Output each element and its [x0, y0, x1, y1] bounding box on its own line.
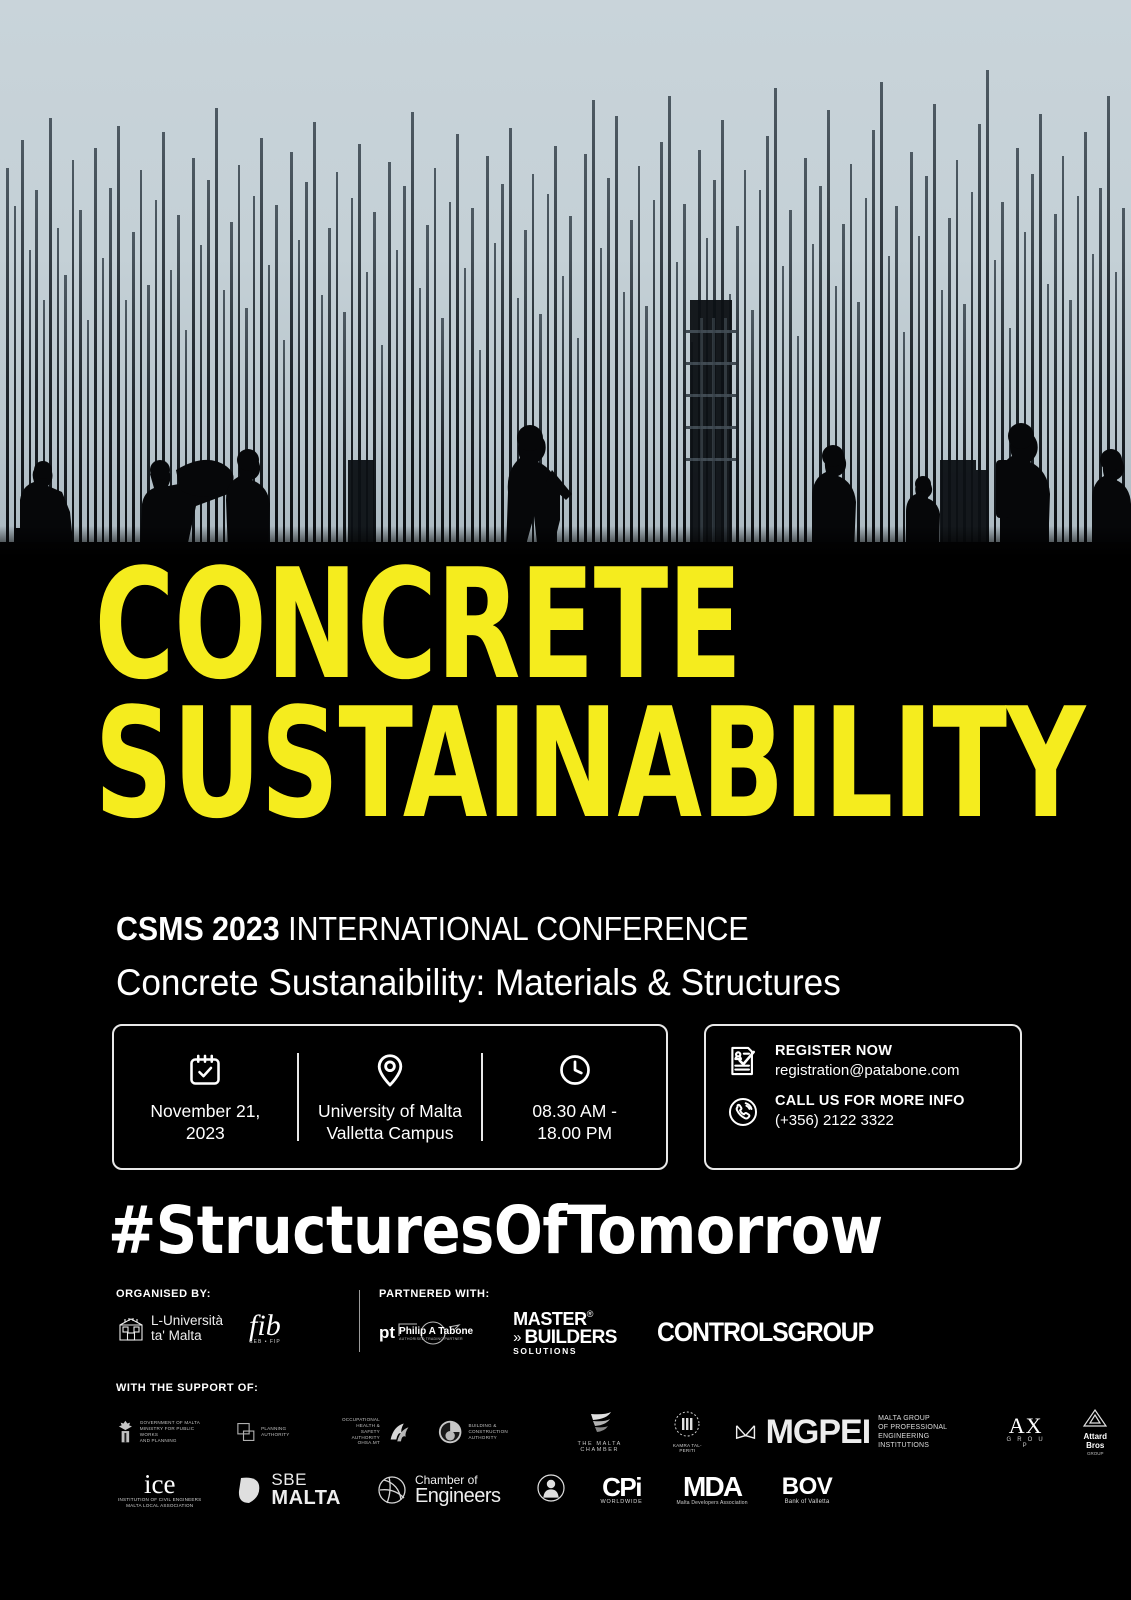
conference-kicker: CSMS 2023 INTERNATIONAL CONFERENCE — [116, 912, 999, 945]
logo-philip-a-tabone: pt Philip A Tabone AUTHORISED TRADING PA… — [379, 1324, 473, 1341]
support-section: WITH THE SUPPORT OF: GOVERNMENT OF MALTA… — [116, 1382, 1116, 1509]
mgpei-line2: OF PROFESSIONAL — [878, 1423, 971, 1432]
bca-text: BUILDING & CONSTRUCTION AUTHORITY — [469, 1423, 534, 1440]
sbe-line2: MALTA — [271, 1489, 341, 1509]
event-details-box: November 21, 2023 University of Malta Va… — [112, 1024, 668, 1170]
fib-subtext: CEB • FIP — [249, 1339, 281, 1345]
bov-sub: Bank of Valletta — [782, 1499, 833, 1505]
ice-sub2: MALTA LOCAL ASSOCIATION — [118, 1503, 201, 1509]
clock-icon — [557, 1049, 593, 1091]
cpi-wordmark: CPi — [601, 1475, 643, 1500]
detail-date-text: November 21, 2023 — [150, 1101, 260, 1145]
logo-mccaa — [535, 1472, 567, 1509]
detail-venue-line1: University of Malta — [318, 1101, 462, 1123]
kicker-bold: CSMS 2023 — [116, 910, 280, 947]
cpi-sub: WORLDWIDE — [601, 1499, 643, 1505]
location-pin-icon — [372, 1049, 408, 1091]
logo-mda: MDA Malta Developers Association — [677, 1474, 748, 1507]
detail-venue-line2: Valletta Campus — [318, 1123, 462, 1145]
mda-sub: Malta Developers Association — [677, 1500, 748, 1506]
title-block: CONCRETE SUSTAINABILITY CSMS 2023 INTERN… — [0, 560, 1131, 829]
call-text: CALL US FOR MORE INFO (+356) 2122 3322 — [775, 1092, 965, 1130]
logo-sbe-malta: SBE MALTA — [235, 1472, 341, 1508]
register-text: REGISTER NOW registration@patabone.com — [775, 1042, 960, 1080]
mgpei-line3: ENGINEERING INSTITUTIONS — [878, 1432, 971, 1450]
detail-time-line1: 08.30 AM - — [532, 1101, 617, 1123]
mb-bottom: SOLUTIONS — [513, 1347, 617, 1356]
detail-time-text: 08.30 AM - 18.00 PM — [532, 1101, 617, 1145]
partners-divider — [359, 1290, 360, 1352]
mgpei-sub: MALTA GROUP OF PROFESSIONAL ENGINEERING … — [878, 1414, 971, 1450]
conference-poster: CONCRETE SUSTAINABILITY CSMS 2023 INTERN… — [0, 0, 1131, 1600]
uom-line1: L-Università — [151, 1314, 223, 1329]
call-row[interactable]: CALL US FOR MORE INFO (+356) 2122 3322 — [724, 1092, 1020, 1130]
support-label: WITH THE SUPPORT OF: — [116, 1382, 1116, 1394]
malta-chamber-text: THE MALTA CHAMBER — [559, 1441, 640, 1453]
mb-chevron-icon: » — [513, 1330, 521, 1345]
mb-reg-mark: ® — [587, 1310, 594, 1319]
uom-line2: ta' Malta — [151, 1329, 223, 1344]
title-line-1: CONCRETE — [94, 560, 904, 691]
hero-photo — [0, 0, 1131, 560]
mgpei-wordmark: MGPEI — [766, 1416, 871, 1448]
detail-venue-text: University of Malta Valletta Campus — [318, 1101, 462, 1145]
hashtag: #StructuresOfTomorrow — [108, 1192, 1088, 1269]
registration-form-icon — [724, 1042, 762, 1080]
ohsa-line2: HEALTH & SAFETY — [338, 1423, 380, 1434]
bov-wordmark: BOV — [782, 1476, 833, 1499]
ax-wordmark: AX — [1003, 1415, 1049, 1437]
logo-bov: BOV Bank of Valletta — [782, 1476, 833, 1505]
coe-line2: Engineers — [415, 1486, 501, 1506]
support-logo-row-1: GOVERNMENT OF MALTA MINISTRY FOR PUBLIC … — [116, 1408, 1116, 1456]
title-line-2: SUSTAINABILITY — [94, 699, 904, 830]
logo-ice: ice INSTITUTION OF CIVIL ENGINEERS MALTA… — [118, 1472, 201, 1509]
logo-fib: fib CEB • FIP — [249, 1312, 281, 1345]
logo-university-of-malta: L-Università ta' Malta — [116, 1314, 223, 1344]
register-email[interactable]: registration@patabone.com — [775, 1061, 960, 1081]
call-title: CALL US FOR MORE INFO — [775, 1092, 965, 1111]
partnered-with-label: PARTNERED WITH: — [379, 1288, 1119, 1300]
pa-text: PLANNING AUTHORITY — [261, 1426, 312, 1437]
logo-planning-authority: PLANNING AUTHORITY — [236, 1420, 313, 1444]
partnered-with-column: PARTNERED WITH: pt Philip A Tabone AUTHO… — [379, 1288, 1119, 1356]
pt-name: Philip A Tabone — [399, 1327, 473, 1337]
organised-by-column: ORGANISED BY: L-Università ta' Malta — [116, 1288, 344, 1345]
attard-bros-sub: GROUP — [1075, 1451, 1116, 1456]
ice-wordmark: ice — [118, 1472, 201, 1498]
details-row: November 21, 2023 University of Malta Va… — [112, 1024, 1022, 1174]
logo-building-construction-authority: BUILDING & CONSTRUCTION AUTHORITY — [437, 1418, 533, 1446]
logo-university-of-malta-text: L-Università ta' Malta — [151, 1314, 223, 1344]
logo-government-of-malta: GOVERNMENT OF MALTA MINISTRY FOR PUBLIC … — [116, 1419, 210, 1445]
gom-text: GOVERNMENT OF MALTA MINISTRY FOR PUBLIC … — [140, 1420, 210, 1443]
worker-silhouettes — [0, 0, 1131, 560]
phone-circle-icon — [724, 1093, 762, 1131]
calendar-check-icon — [187, 1049, 223, 1091]
kicker-regular: INTERNATIONAL CONFERENCE — [288, 910, 749, 947]
ax-sub: G R O U P — [1003, 1437, 1049, 1449]
attard-bros-wordmark: Attard Bros — [1075, 1433, 1116, 1451]
bca-line1: BUILDING & CONSTRUCTION — [469, 1423, 534, 1434]
logo-master-builders-solutions: MASTER ® » BUILDERS SOLUTIONS — [513, 1310, 617, 1356]
contact-box: REGISTER NOW registration@patabone.com — [704, 1024, 1022, 1170]
organised-by-label: ORGANISED BY: — [116, 1288, 344, 1300]
detail-venue: University of Malta Valletta Campus — [299, 1049, 482, 1145]
pt-monogram: pt — [379, 1324, 395, 1341]
register-title: REGISTER NOW — [775, 1042, 960, 1061]
detail-date-line1: November 21, — [150, 1101, 260, 1123]
detail-date: November 21, 2023 — [114, 1049, 297, 1145]
call-number[interactable]: (+356) 2122 3322 — [775, 1111, 965, 1131]
logo-ohsa: OCCUPATIONAL HEALTH & SAFETY AUTHORITY o… — [338, 1417, 411, 1446]
conference-subtitle: Concrete Sustanaibility: Materials & Str… — [116, 964, 1066, 1001]
logo-cpi-worldwide: CPi WORLDWIDE — [601, 1475, 643, 1506]
ohsa-text: OCCUPATIONAL HEALTH & SAFETY AUTHORITY o… — [338, 1417, 380, 1446]
support-logo-row-2: ice INSTITUTION OF CIVIL ENGINEERS MALTA… — [116, 1472, 1116, 1509]
gom-line2: MINISTRY FOR PUBLIC WORKS — [140, 1426, 210, 1437]
mb-top: MASTER — [513, 1310, 587, 1328]
controls-group-wordmark: CONTROLSGROUP — [657, 1319, 873, 1346]
gom-line3: AND PLANNING — [140, 1438, 210, 1444]
logo-controls-group: CONTROLSGROUP — [657, 1319, 892, 1346]
register-row[interactable]: REGISTER NOW registration@patabone.com — [724, 1042, 1020, 1080]
detail-time: 08.30 AM - 18.00 PM — [483, 1049, 666, 1145]
logo-ax-group: AX G R O U P — [1003, 1415, 1049, 1449]
logo-mgpei: MGPEI MALTA GROUP OF PROFESSIONAL ENGINE… — [734, 1414, 970, 1450]
logo-chamber-of-engineers: Chamber of Engineers — [375, 1474, 501, 1506]
logo-malta-chamber: THE MALTA CHAMBER — [559, 1410, 640, 1453]
mb-mid: BUILDERS — [524, 1328, 616, 1347]
mgpei-line1: MALTA GROUP — [878, 1414, 971, 1423]
bca-line2: AUTHORITY — [469, 1435, 534, 1441]
logo-attard-bros: Attard Bros GROUP — [1075, 1408, 1116, 1456]
fib-wordmark: fib — [249, 1312, 281, 1339]
logo-kamra-tal-periti: KAMRA TAL-PERITI — [666, 1410, 708, 1454]
ktp-text: KAMRA TAL-PERITI — [666, 1443, 708, 1454]
pt-tagline: AUTHORISED TRADING PARTNER — [399, 1337, 473, 1342]
detail-date-line2: 2023 — [150, 1123, 260, 1145]
poster-title: CONCRETE SUSTAINABILITY — [0, 560, 905, 829]
partners-section: ORGANISED BY: L-Università ta' Malta — [116, 1288, 1116, 1358]
mda-wordmark: MDA — [677, 1474, 748, 1501]
detail-time-line2: 18.00 PM — [532, 1123, 617, 1145]
ohsa-line4: ohsa.mt — [338, 1440, 380, 1446]
